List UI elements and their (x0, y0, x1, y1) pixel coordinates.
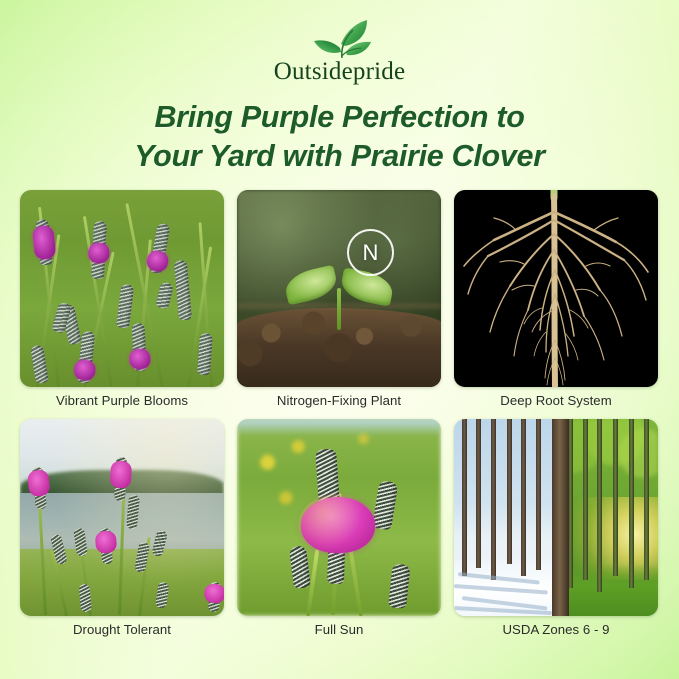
brand-logo: Outsidepride (0, 12, 679, 84)
lakeside-illustration (20, 419, 224, 616)
feature-caption: Drought Tolerant (20, 622, 224, 639)
feature-caption: Deep Root System (454, 393, 658, 410)
feature-card-vibrant-purple-blooms: Vibrant Purple Blooms (20, 190, 224, 410)
feature-card-deep-root-system: Deep Root System (454, 190, 658, 410)
feature-image-deep-root-system (454, 190, 658, 387)
four-seasons-illustration (454, 419, 658, 616)
headline-line-1: Bring Purple Perfection to (0, 98, 679, 137)
product-infographic: Outsidepride Bring Purple Perfection to … (0, 0, 679, 679)
feature-card-drought-tolerant: Drought Tolerant (20, 419, 224, 639)
feature-grid: Vibrant Purple Blooms N Nitrogen-Fixing … (20, 190, 659, 638)
brand-name: Outsidepride (0, 59, 679, 84)
feature-caption: USDA Zones 6 - 9 (454, 622, 658, 639)
root-system-illustration (454, 190, 658, 387)
feature-caption: Vibrant Purple Blooms (20, 393, 224, 410)
root-svg (454, 190, 658, 387)
three-leaf-sprig-icon (301, 12, 379, 58)
feature-image-drought-tolerant (20, 419, 224, 616)
feature-caption: Full Sun (237, 622, 441, 639)
headline-line-2: Your Yard with Prairie Clover (0, 137, 679, 176)
feature-image-vibrant-purple-blooms (20, 190, 224, 387)
feature-image-full-sun (237, 419, 441, 616)
feature-image-usda-zones (454, 419, 658, 616)
feature-card-full-sun: Full Sun (237, 419, 441, 639)
feature-card-nitrogen-fixing-plant: N Nitrogen-Fixing Plant (237, 190, 441, 410)
meadow-illustration (20, 190, 224, 387)
feature-card-usda-zones: USDA Zones 6 - 9 (454, 419, 658, 639)
center-trunk (552, 419, 569, 616)
clover-closeup-illustration (237, 419, 441, 616)
seedling-illustration: N (237, 190, 441, 387)
feature-caption: Nitrogen-Fixing Plant (237, 393, 441, 410)
page-title: Bring Purple Perfection to Your Yard wit… (0, 98, 679, 176)
clover-bloom (301, 497, 375, 553)
sprout-stem (337, 288, 341, 330)
feature-image-nitrogen-fixing-plant: N (237, 190, 441, 387)
